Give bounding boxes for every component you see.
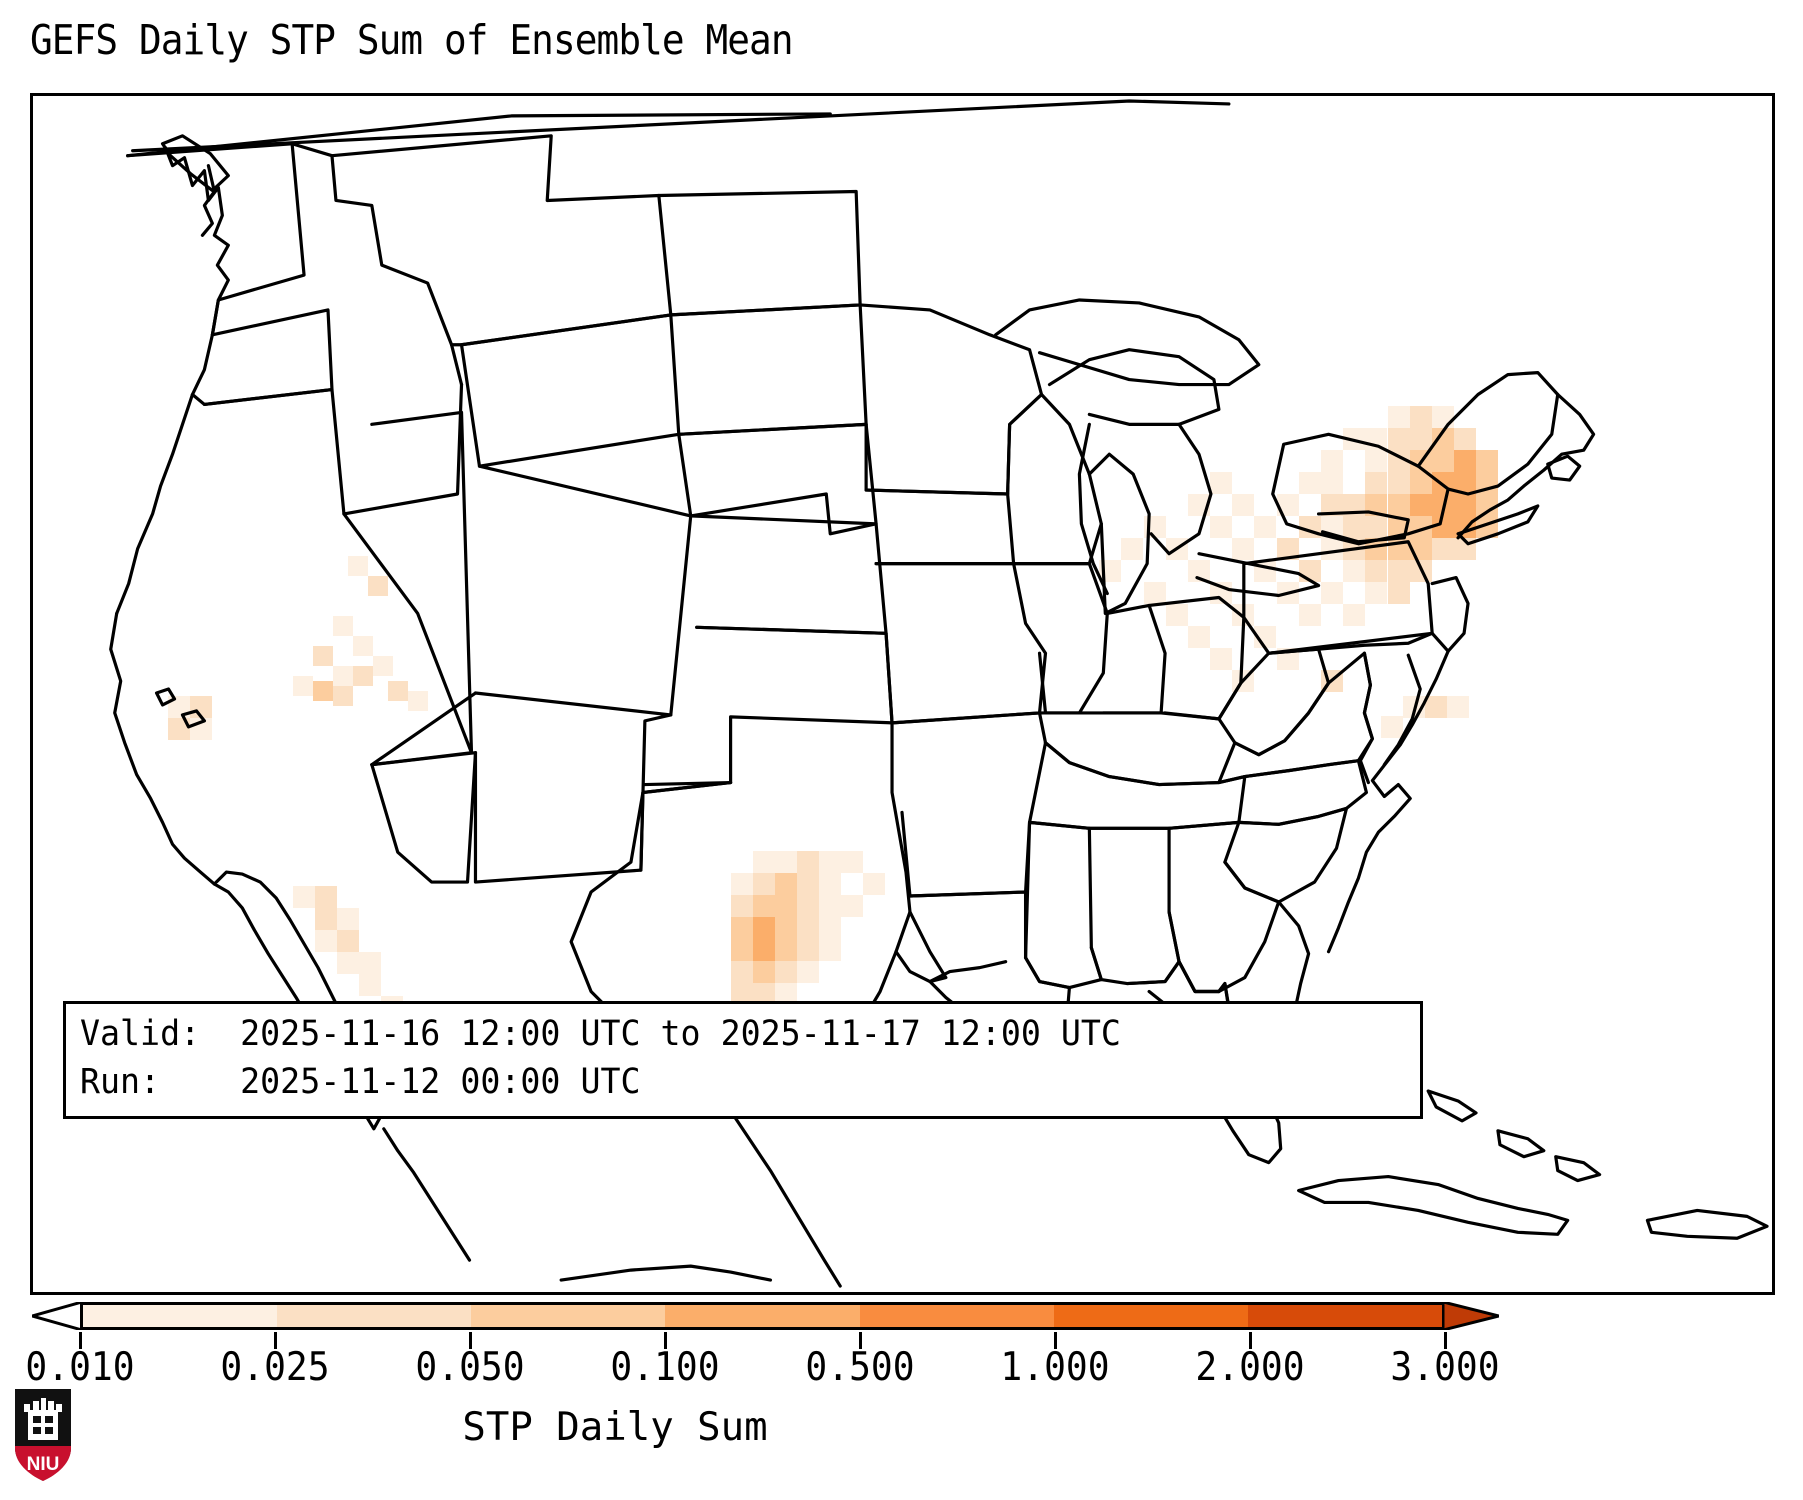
niu-logo: NIU (12, 1386, 74, 1484)
colorbar-tick-label-5: 1.000 (1000, 1345, 1109, 1390)
border-nm-tx (641, 783, 731, 871)
coastline-gulf (896, 912, 946, 982)
border-ca-nv-2 (344, 514, 472, 753)
state-iowa (866, 490, 1013, 564)
state-tennessee (1030, 743, 1245, 829)
colorbar-tick-label-2: 0.050 (415, 1345, 524, 1390)
colorbar-segment-1 (277, 1305, 471, 1327)
run-line: Run: 2025-11-12 00:00 UTC (80, 1058, 1340, 1106)
colorbar-title: STP Daily Sum (0, 1405, 1230, 1450)
island-bahamas-3 (1556, 1157, 1600, 1181)
colorbar-extend-high (1443, 1302, 1499, 1330)
mexico-east-coast (731, 1111, 841, 1286)
state-missouri (876, 564, 1045, 723)
cape-cod (1548, 456, 1580, 480)
island-hispaniola (1647, 1210, 1767, 1238)
colorbar-extend-low (32, 1302, 82, 1330)
state-westvirginia (1219, 649, 1329, 754)
colorbar-segment-4 (860, 1305, 1054, 1327)
channel-islands-2 (182, 711, 204, 727)
niu-logo-text: NIU (27, 1454, 60, 1475)
island-bahamas-1 (1428, 1091, 1476, 1121)
channel-islands-1 (157, 689, 175, 705)
border-id-mt (292, 144, 461, 385)
colorbar-tick-label-0: 0.010 (25, 1345, 134, 1390)
state-georgia (1169, 822, 1279, 991)
colorbar-tick-label-4: 0.500 (805, 1345, 914, 1390)
state-newyork (1273, 434, 1448, 543)
map-panel: Valid: 2025-11-16 12:00 UTC to 2025-11-1… (30, 93, 1775, 1295)
colorbar-segment-0 (83, 1305, 277, 1327)
state-northcarolina (1239, 761, 1367, 825)
colorbar-segment-3 (665, 1305, 859, 1327)
border-nv-ca (204, 385, 461, 514)
state-washington (128, 144, 304, 335)
coastline-california (111, 613, 215, 884)
coastline-midatlantic (1329, 651, 1449, 951)
state-alabama (1089, 828, 1179, 983)
state-mississippi (1026, 822, 1102, 987)
colorbar (30, 1298, 1775, 1348)
state-nd (659, 192, 860, 315)
niu-castle-icon (24, 1398, 62, 1440)
page-title: GEFS Daily STP Sum of Ensemble Mean (30, 16, 793, 64)
yucatan-coast (561, 1266, 770, 1280)
island-cuba (1299, 1177, 1568, 1235)
colorbar-segment-6 (1248, 1305, 1442, 1327)
state-wyoming (462, 315, 679, 466)
colorbar-tick-labels: 0.0100.0250.0500.1000.5001.0002.0003.000 (0, 1345, 1803, 1395)
colorbar-body (80, 1302, 1445, 1330)
colorbar-tick-label-3: 0.100 (610, 1345, 719, 1390)
state-montana (332, 136, 671, 345)
state-sd (671, 305, 866, 434)
colorbar-tick-label-1: 0.025 (220, 1345, 329, 1390)
state-indiana (1103, 605, 1165, 712)
state-minnesota (860, 305, 1041, 494)
state-newjersey (1432, 578, 1468, 652)
state-colorado (475, 466, 690, 715)
mexico-west-coast (384, 1129, 470, 1260)
colorbar-segment-5 (1054, 1305, 1248, 1327)
colorbar-tick-label-6: 2.000 (1195, 1345, 1304, 1390)
state-kentucky (1040, 713, 1235, 785)
state-oklahoma (645, 627, 892, 784)
valid-run-infobox: Valid: 2025-11-16 12:00 UTC to 2025-11-1… (63, 1001, 1423, 1119)
state-arizona (372, 753, 476, 882)
state-michigan-up (1049, 350, 1218, 425)
island-bahamas-2 (1498, 1131, 1544, 1157)
great-lake-huron (1151, 424, 1211, 553)
valid-line: Valid: 2025-11-16 12:00 UTC to 2025-11-1… (80, 1010, 1340, 1058)
state-delmarva (1384, 655, 1420, 764)
state-kansas (691, 516, 886, 633)
colorbar-segment-2 (471, 1305, 665, 1327)
great-lake-erie (1197, 554, 1319, 596)
state-arkansas (892, 713, 1045, 896)
state-illinois (1014, 564, 1108, 713)
canada-border (133, 101, 1229, 151)
coastline-pacific-northwest (117, 148, 229, 614)
state-pennsylvania (1244, 542, 1432, 653)
colorbar-tick-label-7: 3.000 (1390, 1345, 1499, 1390)
